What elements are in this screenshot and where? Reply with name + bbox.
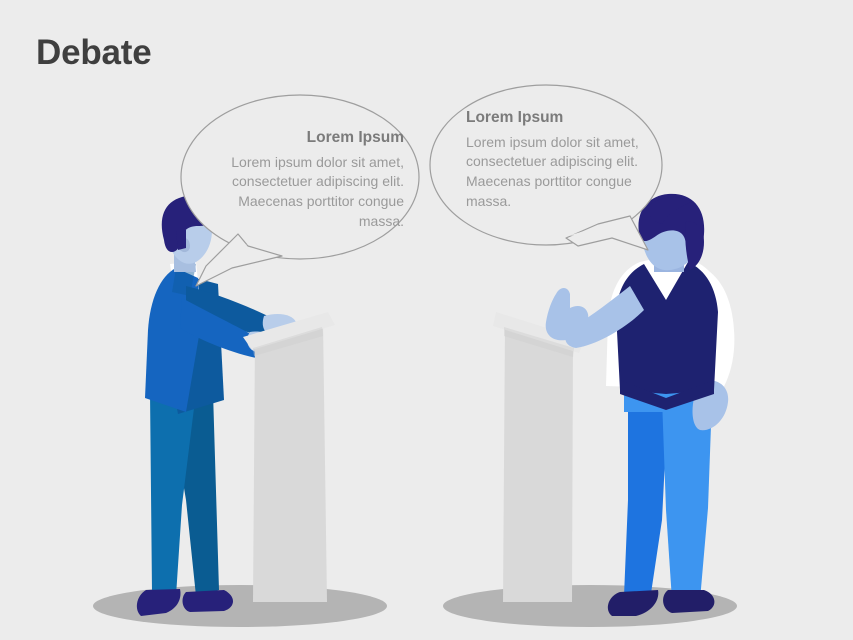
left-podium-body <box>253 322 327 602</box>
right-figure-back-leg <box>624 400 668 600</box>
speech-bubble-left-body-text: Lorem ipsum dolor sit amet, consectetuer… <box>192 153 404 233</box>
speech-bubble-right-text: Lorem Ipsum Lorem ipsum dolor sit amet, … <box>466 109 666 212</box>
speech-bubble-left-heading: Lorem Ipsum <box>192 129 404 148</box>
speech-bubble-right-heading: Lorem Ipsum <box>466 109 666 128</box>
speech-bubble-left-text: Lorem Ipsum Lorem ipsum dolor sit amet, … <box>192 129 404 232</box>
right-podium <box>493 312 585 602</box>
slide-canvas: Debate <box>0 0 853 640</box>
debate-illustration <box>0 0 853 640</box>
left-podium <box>243 312 335 602</box>
speech-bubble-right-body-text: Lorem ipsum dolor sit amet, consectetuer… <box>466 133 666 213</box>
right-podium-body <box>503 322 573 602</box>
left-figure-back-shoe <box>183 590 233 612</box>
right-figure-front-shoe <box>663 590 714 613</box>
right-figure <box>546 194 735 616</box>
